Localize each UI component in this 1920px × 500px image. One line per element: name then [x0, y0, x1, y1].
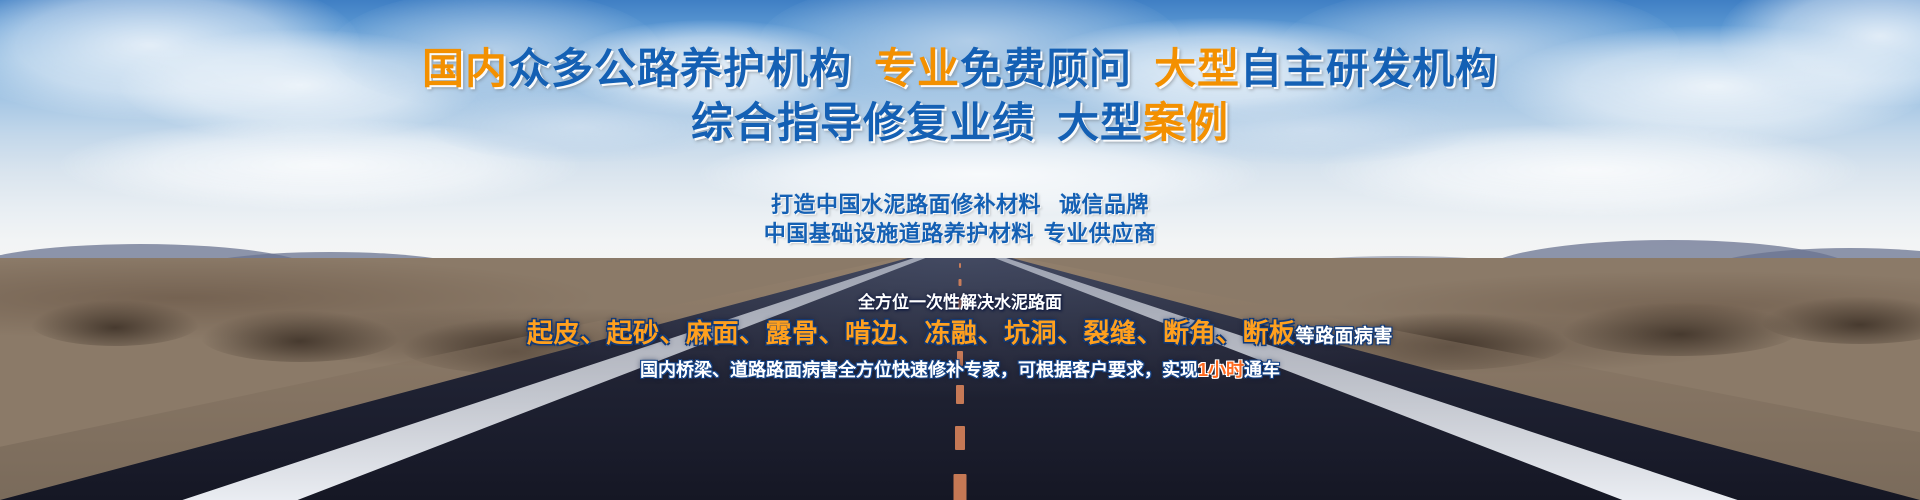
- bottom-tagline: 国内桥梁、道路路面病害全方位快速修补专家，可根据客户要求，实现1小时通车: [0, 357, 1920, 383]
- bottom-tagline-highlight: 1小时: [1198, 360, 1244, 380]
- headline-seg-9: 案例: [1143, 99, 1229, 146]
- headline-line-1: 国内众多公路养护机构专业免费顾问大型自主研发机构: [0, 42, 1920, 96]
- subheadline-seg-4: 专业供应商: [1044, 221, 1157, 246]
- subheadline-line-2: 中国基础设施道路养护材料专业供应商: [0, 219, 1920, 248]
- banner-text-content: 国内众多公路养护机构专业免费顾问大型自主研发机构 综合指导修复业绩大型案例 打造…: [0, 0, 1920, 500]
- bottom-defects-line: 起皮、起砂、麻面、露骨、啃边、冻融、坑洞、裂缝、断角、断板等路面病害: [0, 316, 1920, 354]
- promo-banner: 国内众多公路养护机构专业免费顾问大型自主研发机构 综合指导修复业绩大型案例 打造…: [0, 0, 1920, 500]
- bottom-defects-list: 起皮、起砂、麻面、露骨、啃边、冻融、坑洞、裂缝、断角、断板: [527, 318, 1296, 348]
- subheadline: 打造中国水泥路面修补材料诚信品牌 中国基础设施道路养护材料专业供应商: [0, 190, 1920, 248]
- bottom-tagline-a: 国内桥梁、道路路面病害全方位快速修补专家，可根据客户要求，实现: [640, 360, 1198, 380]
- headline-seg-6: 自主研发机构: [1240, 45, 1498, 92]
- bottom-intro: 全方位一次性解决水泥路面: [0, 292, 1920, 314]
- headline-seg-4: 免费顾问: [960, 45, 1132, 92]
- subheadline-seg-2: 诚信品牌: [1059, 192, 1149, 217]
- headline: 国内众多公路养护机构专业免费顾问大型自主研发机构 综合指导修复业绩大型案例: [0, 42, 1920, 150]
- headline-line-2: 综合指导修复业绩大型案例: [0, 96, 1920, 150]
- subheadline-seg-1: 打造中国水泥路面修补材料: [771, 192, 1041, 217]
- headline-seg-8: 大型: [1057, 99, 1143, 146]
- subheadline-seg-3: 中国基础设施道路养护材料: [764, 221, 1034, 246]
- headline-seg-3: 专业: [874, 45, 960, 92]
- bottom-text-block: 全方位一次性解决水泥路面 起皮、起砂、麻面、露骨、啃边、冻融、坑洞、裂缝、断角、…: [0, 292, 1920, 383]
- subheadline-line-1: 打造中国水泥路面修补材料诚信品牌: [0, 190, 1920, 219]
- headline-seg-5: 大型: [1154, 45, 1240, 92]
- bottom-tagline-b: 通车: [1244, 360, 1280, 380]
- headline-seg-1: 国内: [422, 45, 508, 92]
- headline-seg-7: 综合指导修复业绩: [691, 99, 1035, 146]
- bottom-defects-suffix: 等路面病害: [1296, 326, 1394, 347]
- headline-seg-2: 众多公路养护机构: [508, 45, 852, 92]
